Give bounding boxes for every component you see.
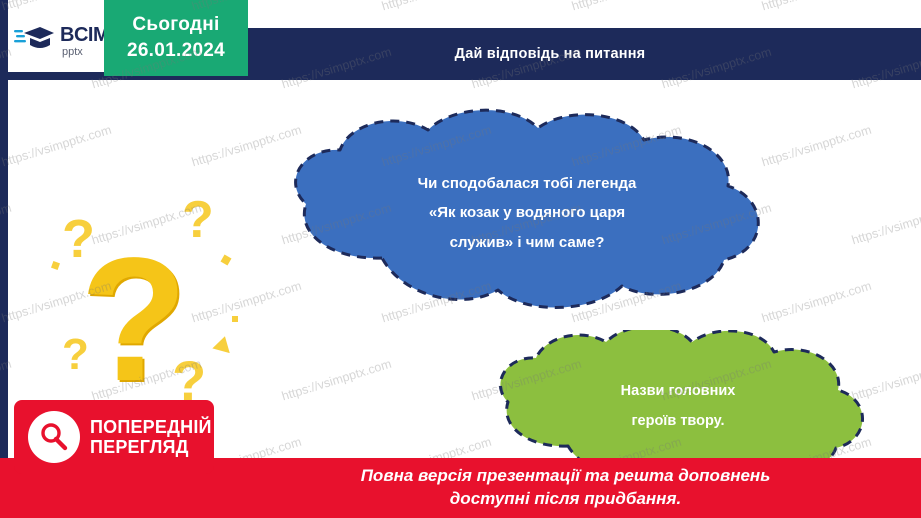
preview-badge-line-2: ПЕРЕГЛЯД — [90, 437, 212, 457]
logo-text: BCIM pptx — [60, 25, 109, 58]
preview-badge[interactable]: ПОПЕРЕДНІЙ ПЕРЕГЛЯД — [14, 400, 214, 474]
watermark-text: https://vsimpptx.com — [280, 357, 393, 404]
question-mark-small-3: ? — [62, 330, 89, 380]
logo-subtitle: pptx — [62, 47, 109, 58]
slide: Дай відповідь на питання BCIM pptx Сього… — [0, 0, 921, 518]
triangle-decoration — [212, 334, 233, 353]
bottom-bar-line-1: Повна версія презентації та решта доповн… — [361, 465, 771, 488]
watermark-text: https://vsimpptx.com — [850, 201, 921, 248]
watermark-text: https://vsimpptx.com — [0, 123, 113, 170]
spark-decoration-1 — [51, 261, 60, 270]
spark-decoration-2 — [221, 255, 232, 266]
watermark-text: https://vsimpptx.com — [380, 0, 493, 13]
cloud-blue: Чи сподобалася тобі легенда «Як козак у … — [262, 108, 792, 318]
date-label: Сьогодні — [132, 14, 219, 36]
date-badge: Сьогодні 26.01.2024 — [104, 0, 248, 76]
left-accent-bar — [0, 0, 8, 518]
preview-badge-label: ПОПЕРЕДНІЙ ПЕРЕГЛЯД — [90, 417, 212, 457]
bottom-bar-text: Повна версія презентації та решта доповн… — [210, 458, 921, 518]
watermark-text: https://vsimpptx.com — [760, 0, 873, 13]
spark-decoration-3 — [232, 316, 238, 322]
bottom-bar-line-2: доступні після придбання. — [450, 488, 681, 511]
date-value: 26.01.2024 — [127, 40, 225, 62]
magnifier-icon — [28, 411, 80, 463]
logo: BCIM pptx — [8, 10, 110, 72]
page-title: Дай відповідь на питання — [250, 28, 850, 80]
logo-title: BCIM — [60, 25, 109, 45]
preview-badge-line-1: ПОПЕРЕДНІЙ — [90, 417, 212, 437]
watermark-text: https://vsimpptx.com — [570, 0, 683, 13]
graduation-cap-icon — [14, 24, 54, 58]
